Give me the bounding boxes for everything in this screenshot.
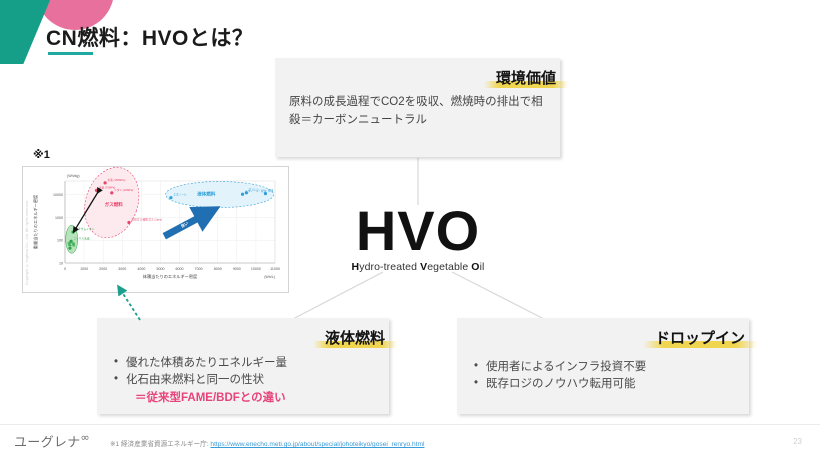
svg-text:天然ガス/都市ガス (1atm): 天然ガス/都市ガス (1atm) — [131, 218, 162, 222]
card-environment-value: 環境価値 原料の成長過程でCO2を吸収、燃焼時の排出で相殺＝カーボンニュートラル — [275, 58, 560, 157]
svg-text:水素 (150MPa): 水素 (150MPa) — [107, 178, 125, 182]
svg-text:10000: 10000 — [251, 267, 261, 271]
title-underline — [48, 52, 93, 55]
list-item: 使用者によるインフラ投資不要 — [473, 359, 733, 376]
svg-text:10: 10 — [59, 261, 63, 265]
page-title: CN燃料：HVOとは？ — [46, 22, 253, 52]
svg-text:リチウムイオン: リチウムイオン — [75, 227, 94, 231]
dashed-link-arrow — [100, 280, 160, 325]
hvo-acronym: HVO — [272, 204, 564, 257]
card-liquid-fuel: 液体燃料 優れた体積あたりエネルギー量 化石由来燃料と同一の性状 ＝従来型FAM… — [97, 318, 389, 414]
svg-text:2000: 2000 — [99, 267, 107, 271]
svg-text:液体燃料: 液体燃料 — [197, 191, 216, 198]
svg-text:(Wh/L): (Wh/L) — [264, 275, 275, 279]
list-item: 化石由来燃料と同一の性状 — [113, 372, 373, 389]
hvo-expansion-h-rest: ydro-treated — [359, 261, 420, 273]
hvo-block: HVO Hydro-treated Vegetable Oil — [272, 204, 564, 273]
slide-root: CN燃料：HVOとは？ 環境価値 原料の成長過程でCO2を吸収、燃焼時の排出で相… — [0, 0, 820, 461]
company-logo-text: ユーグレナ — [14, 435, 81, 450]
card-liquid-fuel-note: ＝従来型FAME/BDFとの違い — [113, 390, 373, 407]
svg-text:3000: 3000 — [118, 267, 126, 271]
svg-text:5000: 5000 — [156, 267, 164, 271]
chart-reference-tag: ※1 — [33, 148, 50, 161]
svg-text:(Wh/kg): (Wh/kg) — [67, 174, 80, 178]
source-citation: ※1 経済産業省資源エネルギー庁: https://www.enecho.met… — [110, 438, 424, 448]
source-prefix: ※1 経済産業省資源エネルギー庁: — [110, 441, 209, 448]
svg-text:8000: 8000 — [214, 267, 222, 271]
card-drop-in-heading: ドロップイン — [651, 327, 749, 348]
svg-text:100: 100 — [57, 239, 63, 243]
svg-text:ガス燃料: ガス燃料 — [104, 201, 123, 208]
svg-text:水素 (70MPa): 水素 (70MPa) — [99, 185, 116, 189]
list-item: 優れた体積あたりエネルギー量 — [113, 355, 373, 372]
svg-text:体積当たりのエネルギー密度: 体積当たりのエネルギー密度 — [143, 273, 198, 280]
svg-text:1000: 1000 — [80, 267, 88, 271]
page-number: 23 — [793, 437, 802, 446]
infinity-icon: ∞ — [81, 431, 90, 444]
card-environment-body: 原料の成長過程でCO2を吸収、燃焼時の排出で相殺＝カーボンニュートラル — [275, 88, 560, 130]
hvo-expansion-v-rest: egetable — [427, 261, 471, 273]
hvo-expansion: Hydro-treated Vegetable Oil — [272, 261, 564, 273]
footer-divider — [0, 424, 820, 425]
svg-text:メタン (20MPa): メタン (20MPa) — [114, 188, 133, 192]
svg-text:重量当たりのエネルギー密度: 重量当たりのエネルギー密度 — [32, 194, 39, 249]
company-logo: ユーグレナ∞ — [14, 431, 90, 450]
svg-text:ニッケル水素: ニッケル水素 — [74, 236, 90, 240]
card-liquid-fuel-bullets: 優れた体積あたりエネルギー量 化石由来燃料と同一の性状 — [113, 355, 373, 390]
card-drop-in: ドロップイン 使用者によるインフラ投資不要 既存ロジのノウハウ転用可能 — [457, 318, 749, 414]
svg-text:0: 0 — [64, 267, 66, 271]
source-link[interactable]: https://www.enecho.meti.go.jp/about/spec… — [210, 441, 424, 448]
list-item: 既存ロジのノウハウ転用可能 — [473, 376, 733, 393]
card-environment-heading: 環境価値 — [492, 67, 560, 88]
svg-text:エタノール: エタノール — [173, 193, 187, 197]
card-liquid-fuel-heading: 液体燃料 — [321, 327, 389, 348]
hvo-expansion-o: O — [471, 261, 479, 273]
svg-text:7000: 7000 — [195, 267, 203, 271]
card-drop-in-bullets: 使用者によるインフラ投資不要 既存ロジのノウハウ転用可能 — [473, 359, 733, 394]
svg-text:10000: 10000 — [53, 193, 63, 197]
chart-canvas: 0100020003000400050006000700080009000100… — [23, 167, 288, 292]
svg-text:1000: 1000 — [55, 216, 63, 220]
svg-text:軽油: 軽油 — [268, 189, 274, 193]
svg-text:4000: 4000 — [137, 267, 145, 271]
svg-text:6000: 6000 — [176, 267, 184, 271]
hvo-expansion-o-rest: il — [480, 261, 485, 273]
svg-text:ガソリン: ガソリン — [249, 188, 260, 192]
svg-text:9000: 9000 — [233, 267, 241, 271]
svg-text:電池: 電池 — [68, 241, 76, 246]
energy-density-chart: Copyright © euglena Co., Ltd. All rights… — [22, 166, 289, 293]
